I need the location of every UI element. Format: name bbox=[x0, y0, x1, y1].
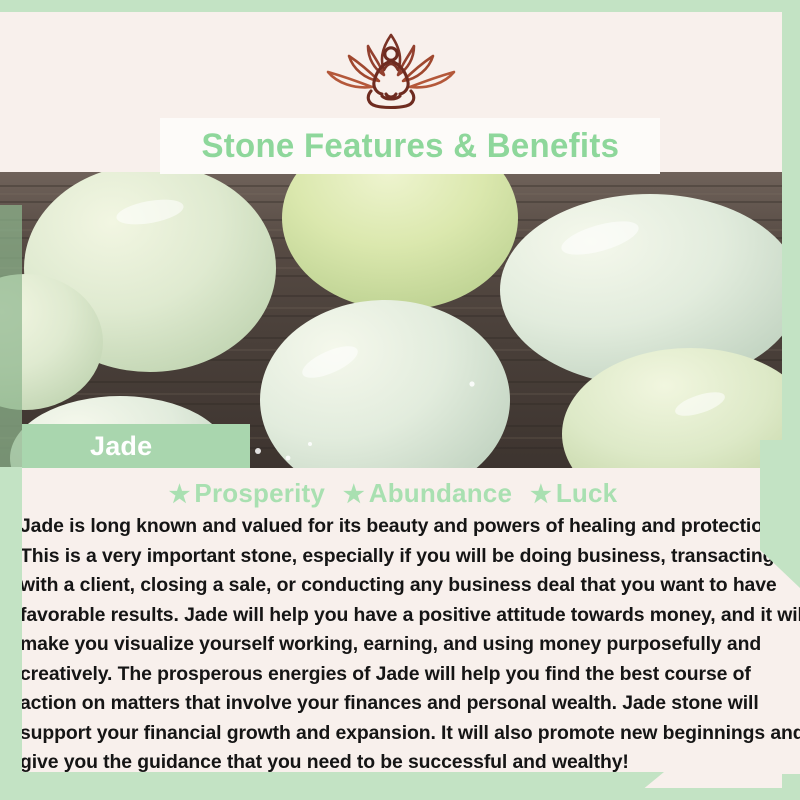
stone-name-banner: Jade bbox=[22, 424, 250, 468]
title-banner: Stone Features & Benefits bbox=[160, 118, 660, 174]
star-icon: ★ bbox=[343, 481, 365, 508]
frame-band-right-diagonal bbox=[760, 550, 800, 626]
page-title: Stone Features & Benefits bbox=[201, 127, 619, 166]
frame-band-bottom bbox=[0, 772, 620, 800]
keyword-prosperity: Prosperity bbox=[194, 478, 325, 508]
frame-band-right-upper bbox=[782, 172, 800, 440]
content-section: ★Prosperity★Abundance★Luck Jade is long … bbox=[22, 468, 800, 774]
frame-band-left-photo bbox=[0, 205, 22, 467]
stone-info-poster: BUDDHA STONES Stone Features & Benefits bbox=[0, 0, 800, 800]
stone-description: Jade is long known and valued for its be… bbox=[20, 512, 800, 778]
stone-name: Jade bbox=[90, 431, 152, 462]
keyword-luck: Luck bbox=[556, 478, 617, 508]
star-icon: ★ bbox=[169, 481, 191, 508]
frame-band-right-mid bbox=[760, 440, 800, 550]
keyword-abundance: Abundance bbox=[369, 478, 512, 508]
lotus-meditation-icon bbox=[316, 28, 466, 110]
star-icon: ★ bbox=[530, 481, 552, 508]
keyword-list: ★Prosperity★Abundance★Luck bbox=[22, 478, 762, 509]
frame-band-top bbox=[0, 0, 800, 12]
frame-band-left-lower bbox=[0, 467, 22, 800]
frame-band-bottom-diagonal bbox=[596, 772, 664, 800]
frame-band-right-top bbox=[782, 0, 800, 172]
